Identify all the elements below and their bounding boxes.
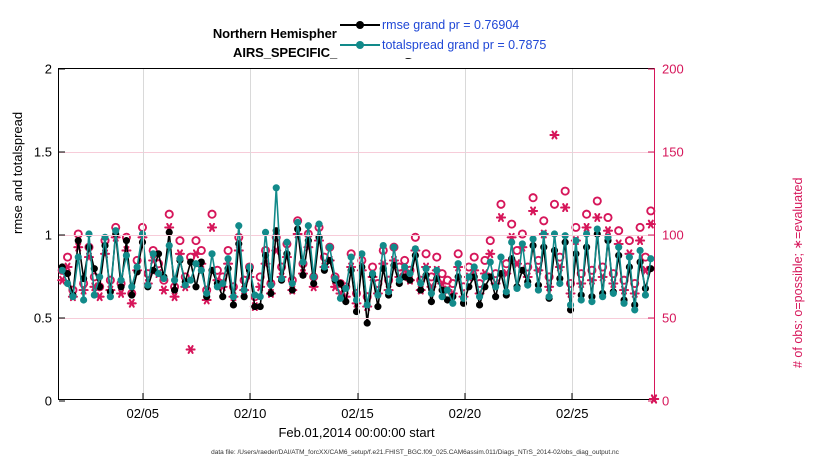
series-point: [113, 228, 119, 234]
series-point: [621, 300, 627, 306]
series-point: [455, 261, 461, 267]
obs-evaluated-marker: [117, 290, 125, 297]
obs-possible-marker: [455, 250, 462, 257]
y-axis-left-tickmark: [59, 69, 65, 70]
series-point: [546, 294, 552, 300]
y-axis-right-tickmark: [648, 69, 654, 70]
obs-possible-marker: [551, 201, 558, 208]
x-axis-tickmark: [357, 393, 358, 399]
obs-possible-marker: [139, 224, 146, 231]
series-point: [273, 185, 279, 191]
series-point: [123, 238, 129, 244]
obs-possible-marker: [637, 224, 644, 231]
obs-evaluated-marker: [529, 207, 537, 214]
series-point: [632, 307, 638, 313]
series-point: [150, 251, 156, 257]
series-point: [616, 244, 622, 250]
obs-evaluated-marker: [583, 224, 591, 231]
series-point: [204, 290, 210, 296]
series-point: [118, 277, 124, 283]
obs-evaluated-marker: [561, 204, 569, 211]
x-axis-tickmark: [464, 393, 465, 399]
series-point: [102, 234, 108, 240]
series-point: [594, 226, 600, 232]
obs-evaluated-marker: [550, 132, 558, 139]
series-point: [91, 292, 97, 298]
series-point: [487, 259, 493, 265]
series-point: [337, 280, 343, 286]
series-point: [327, 244, 333, 250]
series-point: [402, 264, 408, 270]
x-axis-tick-label: 02/15: [341, 406, 374, 421]
series-point: [193, 261, 199, 267]
y-axis-right-tickmark: [648, 152, 654, 153]
y-axis-right-tick-label: 0: [662, 394, 669, 409]
series-point: [236, 223, 242, 229]
x-axis-label: Feb.01,2014 00:00:00 start: [58, 425, 655, 440]
series-point: [193, 284, 199, 290]
x-axis-tick-label: 02/20: [449, 406, 482, 421]
series-point: [514, 285, 520, 291]
series-point: [161, 275, 167, 281]
series-point: [75, 238, 81, 244]
series-point: [407, 271, 413, 277]
series-point: [482, 274, 488, 280]
obs-possible-marker: [647, 207, 654, 214]
x-axis-tick-label: 02/25: [556, 406, 589, 421]
series-point: [348, 254, 354, 260]
plot-series-svg: [59, 69, 654, 399]
series-point: [428, 299, 434, 305]
series-point: [59, 267, 65, 273]
series-point: [535, 287, 541, 293]
y-axis-left-label: rmse and totalspread: [10, 112, 25, 234]
series-point: [220, 280, 226, 286]
obs-possible-marker: [369, 263, 376, 270]
x-axis-tickmark: [250, 393, 251, 399]
series-point: [476, 294, 482, 300]
y-axis-right-tickmark: [648, 318, 654, 319]
series-point: [407, 277, 413, 283]
obs-possible-marker: [487, 237, 494, 244]
series-point: [476, 302, 482, 308]
series-point: [439, 294, 445, 300]
y-axis-right-tick-label: 200: [662, 62, 684, 77]
series-point: [134, 264, 140, 270]
series-point: [316, 221, 322, 227]
obs-possible-marker: [615, 227, 622, 234]
series-point: [300, 272, 306, 278]
obs-possible-marker: [471, 254, 478, 261]
series-point: [166, 229, 172, 235]
series-point: [241, 294, 247, 300]
series-point: [428, 290, 434, 296]
obs-possible-marker: [594, 197, 601, 204]
obs-evaluated-marker: [128, 300, 136, 307]
x-axis-tick-label: 02/05: [126, 406, 159, 421]
series-point: [129, 284, 135, 290]
series-point: [268, 290, 274, 296]
series-point: [648, 256, 654, 262]
series-point: [493, 284, 499, 290]
y-axis-right-label: # of obs: o=possible; ∗=evaluated: [790, 178, 805, 368]
obs-evaluated-marker: [208, 224, 216, 231]
y-axis-left-tickmark: [59, 152, 65, 153]
series-point: [166, 242, 172, 248]
series-point: [295, 219, 301, 225]
series-point: [380, 242, 386, 248]
y-axis-right-tickmark: [648, 401, 654, 402]
series-point: [311, 274, 317, 280]
obs-possible-marker: [497, 201, 504, 208]
y-axis-left-tick-label: 1: [45, 228, 52, 243]
series-point: [230, 302, 236, 308]
obs-possible-marker: [64, 254, 71, 261]
obs-evaluated-marker: [604, 227, 612, 234]
series-point: [530, 236, 536, 242]
legend-item-totalspread: totalspread grand pr = 0.7875: [340, 35, 595, 55]
series-point: [444, 287, 450, 293]
obs-possible-marker: [540, 217, 547, 224]
series-point: [289, 287, 295, 293]
obs-possible-marker: [224, 247, 231, 254]
series-point: [359, 251, 365, 257]
series-point: [118, 284, 124, 290]
legend-item-rmse: rmse grand pr = 0.76904: [340, 15, 595, 35]
series-point: [353, 308, 359, 314]
series-point: [86, 231, 92, 237]
series-point: [605, 234, 611, 240]
series-point: [289, 280, 295, 286]
obs-evaluated-marker: [631, 290, 639, 297]
obs-possible-marker: [412, 234, 419, 241]
series-point: [541, 231, 547, 237]
series-point: [583, 244, 589, 250]
series-point: [353, 297, 359, 303]
obs-possible-marker: [519, 230, 526, 237]
series-point: [423, 266, 429, 272]
series-point: [155, 271, 161, 277]
series-point: [139, 231, 145, 237]
series-point: [583, 231, 589, 237]
series-point: [519, 241, 525, 247]
series-point: [375, 292, 381, 298]
series-point: [241, 287, 247, 293]
chart-legend: rmse grand pr = 0.76904 totalspread gran…: [337, 12, 599, 58]
obs-evaluated-marker: [497, 214, 505, 221]
obs-evaluated-marker: [171, 293, 179, 300]
series-point: [86, 244, 92, 250]
series-point: [198, 267, 204, 273]
series-point: [626, 254, 632, 260]
obs-evaluated-marker: [187, 346, 195, 353]
figure-canvas: Northern Hemisphere 9974 / 10374 = 96.14…: [0, 0, 830, 470]
series-point: [257, 294, 263, 300]
series-point: [573, 238, 579, 244]
series-point: [509, 239, 515, 245]
series-point: [418, 280, 424, 286]
series-point: [503, 289, 509, 295]
data-file-footer: data file: /Users/raeder/DAI/ATM_forcXX/…: [0, 449, 830, 456]
y-axis-right-tick-label: 100: [662, 228, 684, 243]
y-axis-left-tickmark: [59, 235, 65, 236]
series-point: [97, 274, 103, 280]
y-axis-right-tick-label: 50: [662, 311, 676, 326]
series-point: [364, 320, 370, 326]
plot-area: 00.511.5205010015020002/0502/1002/1502/2…: [58, 68, 655, 400]
series-point: [188, 277, 194, 283]
series-point: [525, 282, 531, 288]
legend-label-rmse: rmse grand pr = 0.76904: [382, 18, 519, 32]
obs-possible-marker: [562, 188, 569, 195]
series-point: [171, 277, 177, 283]
series-point: [375, 304, 381, 310]
y-axis-left-tick-label: 2: [45, 62, 52, 77]
legend-marker-totalspread: [340, 39, 380, 51]
obs-possible-marker: [433, 254, 440, 261]
obs-possible-marker: [422, 250, 429, 257]
series-point: [412, 246, 418, 252]
obs-evaluated-marker: [647, 221, 655, 228]
y-axis-left-tickmark: [59, 318, 65, 319]
y-axis-right-tickmark: [648, 235, 654, 236]
series-point: [589, 299, 595, 305]
obs-possible-marker: [572, 224, 579, 231]
y-axis-left-tick-label: 1.5: [34, 145, 52, 160]
series-point: [343, 285, 349, 291]
x-axis-tickmark: [142, 393, 143, 399]
obs-evaluated-marker: [486, 250, 494, 257]
obs-evaluated-marker: [636, 237, 644, 244]
series-point: [557, 280, 563, 286]
series-point: [81, 297, 87, 303]
series-point: [262, 229, 268, 235]
series-point: [220, 294, 226, 300]
series-point: [386, 289, 392, 295]
series-point: [471, 264, 477, 270]
obs-possible-marker: [626, 237, 633, 244]
obs-possible-marker: [508, 221, 515, 228]
obs-evaluated-marker: [577, 280, 585, 287]
series-point: [311, 280, 317, 286]
series-point: [75, 254, 81, 260]
series-point: [145, 282, 151, 288]
series-point: [321, 264, 327, 270]
series-point: [396, 277, 402, 283]
obs-evaluated-marker: [160, 287, 168, 294]
series-point: [182, 282, 188, 288]
series-point: [257, 304, 263, 310]
obs-possible-marker: [604, 214, 611, 221]
y-axis-right-tick-label: 150: [662, 145, 684, 160]
legend-label-totalspread: totalspread grand pr = 0.7875: [382, 38, 546, 52]
series-point: [246, 264, 252, 270]
obs-possible-marker: [166, 211, 173, 218]
series-point: [567, 302, 573, 308]
series-point: [332, 275, 338, 281]
series-point: [610, 290, 616, 296]
series-point: [300, 259, 306, 265]
series-point: [562, 233, 568, 239]
x-axis-tick-label: 02/10: [234, 406, 267, 421]
series-point: [434, 267, 440, 273]
series-point: [209, 251, 215, 257]
series-point: [450, 300, 456, 306]
series-point: [123, 252, 129, 258]
series-point: [171, 287, 177, 293]
series-point: [129, 292, 135, 298]
series-point: [177, 256, 183, 262]
series-point: [369, 271, 375, 277]
y-axis-left-tick-label: 0.5: [34, 311, 52, 326]
series-point: [64, 280, 70, 286]
obs-evaluated-marker: [593, 214, 601, 221]
series-point: [466, 274, 472, 280]
series-point: [279, 275, 285, 281]
obs-possible-marker: [208, 211, 215, 218]
series-point: [284, 239, 290, 245]
obs-possible-marker: [192, 237, 199, 244]
series-point: [551, 231, 557, 237]
series-point: [642, 292, 648, 298]
x-axis-tickmark: [572, 393, 573, 399]
series-point: [107, 294, 113, 300]
series-point: [493, 294, 499, 300]
series-point: [364, 302, 370, 308]
series-point: [337, 295, 343, 301]
y-axis-left-tick-label: 0: [45, 394, 52, 409]
series-point: [460, 295, 466, 301]
series-point: [230, 294, 236, 300]
obs-possible-marker: [176, 237, 183, 244]
obs-possible-marker: [75, 230, 82, 237]
series-point: [391, 244, 397, 250]
series-point: [600, 294, 606, 300]
series-point: [578, 297, 584, 303]
y-axis-left-tickmark: [59, 401, 65, 402]
legend-marker-rmse: [340, 19, 380, 31]
series-point: [498, 254, 504, 260]
obs-possible-marker: [401, 257, 408, 264]
series-point: [637, 247, 643, 253]
obs-possible-marker: [583, 211, 590, 218]
obs-possible-marker: [529, 194, 536, 201]
series-point: [268, 282, 274, 288]
right-axis-spine: [654, 68, 655, 402]
series-point: [225, 256, 231, 262]
series-point: [418, 287, 424, 293]
series-point: [305, 223, 311, 229]
series-point: [70, 294, 76, 300]
